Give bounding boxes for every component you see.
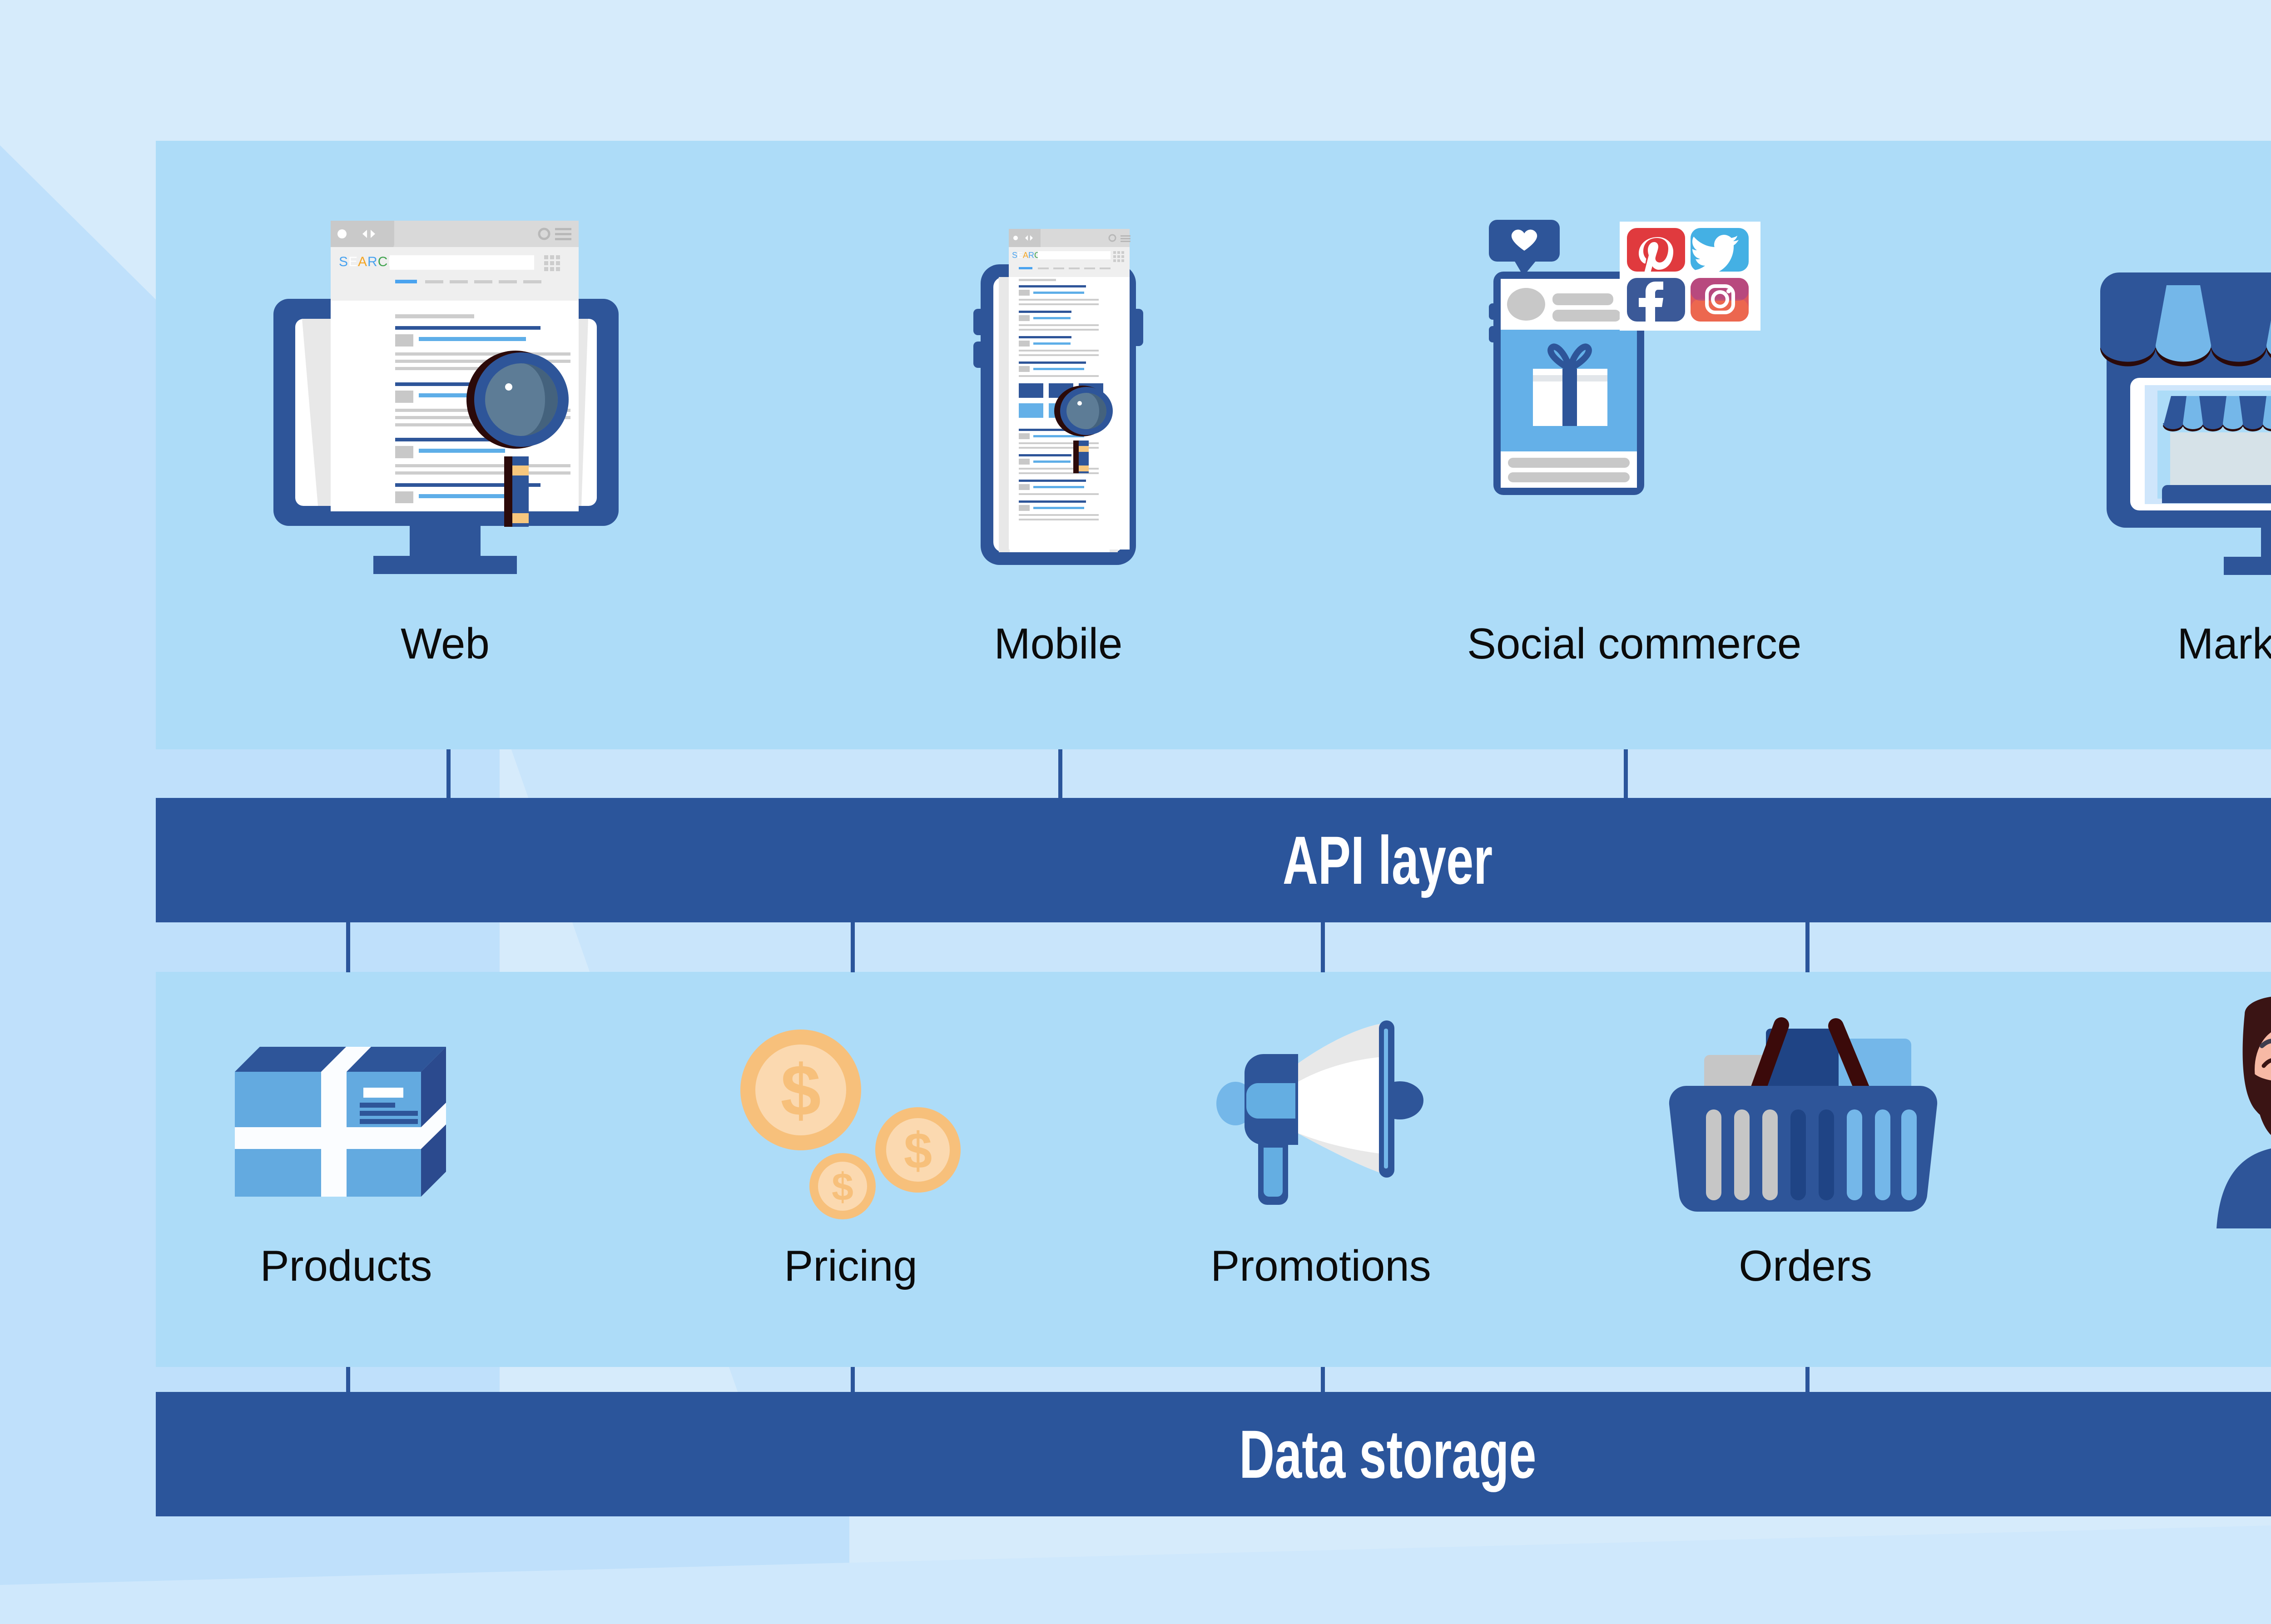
connector-products-storage [346,1367,350,1393]
label-social-commerce: Social commerce [1467,622,1785,666]
node-mobile[interactable]: SEARCH [952,200,1165,577]
label-marketplace: Marketplace [2089,622,2271,666]
label-web: Web [241,622,650,666]
label-customers: Customers [2216,1244,2271,1288]
coins-icon: $ $ $ [733,1008,969,1213]
api-layer-bar[interactable]: API layer [156,798,2271,922]
connector-api-products [346,922,350,972]
connector-pricing-storage [851,1367,855,1393]
svg-text:$: $ [781,1050,821,1131]
label-mobile: Mobile [952,622,1165,666]
label-pricing: Pricing [733,1244,969,1288]
heart-bubble [1489,220,1560,276]
node-label-social-commerce: Social commerce [1467,619,1801,668]
label-promotions: Promotions [1203,1244,1439,1288]
connector-promotions-storage [1321,1367,1325,1393]
node-customers[interactable] [2216,992,2271,1228]
megaphone-icon [1203,1006,1439,1215]
node-label-mobile: Mobile [994,619,1123,668]
node-label-products: Products [260,1242,432,1290]
shopping-basket-icon [1676,997,1935,1215]
api-layer-label: API layer [1283,826,1493,894]
connector-mobile [1058,749,1062,799]
label-products: Products [210,1244,482,1288]
node-social-commerce[interactable] [1467,200,1785,577]
package-box-icon [210,1022,482,1213]
node-products[interactable] [210,1022,482,1213]
svg-text:$: $ [832,1165,853,1209]
connector-api-pricing [851,922,855,972]
desktop-search-icon: SEARCH [250,200,640,577]
node-label-promotions: Promotions [1210,1242,1431,1290]
data-storage-bar[interactable]: Data storage [156,1392,2271,1516]
social-post-icon [1467,200,1785,577]
connector-web [446,749,451,799]
node-pricing[interactable]: $ $ $ [733,1008,969,1213]
node-label-pricing: Pricing [784,1242,917,1290]
mobile-search-icon: SEARCH [952,200,1165,577]
connector-social [1624,749,1628,799]
connector-api-promotions [1321,922,1325,972]
node-promotions[interactable] [1203,1006,1439,1215]
storefront-icon [2089,254,2271,581]
data-storage-label: Data storage [1239,1420,1536,1488]
svg-text:SEARCH: SEARCH [339,254,398,269]
node-label-orders: Orders [1739,1242,1872,1290]
node-web[interactable]: SEARCH [241,200,650,577]
node-label-marketplace: Marketplace [2177,619,2271,668]
node-orders[interactable] [1676,997,1935,1215]
diagram-stage: SEARCH [0,0,2271,1624]
svg-text:$: $ [904,1122,932,1179]
node-label-web: Web [401,619,490,668]
connector-orders-storage [1805,1367,1810,1393]
label-orders: Orders [1676,1244,1935,1288]
people-group-icon [2216,992,2271,1228]
connector-api-orders [1805,922,1810,972]
node-marketplace[interactable] [2089,254,2271,581]
